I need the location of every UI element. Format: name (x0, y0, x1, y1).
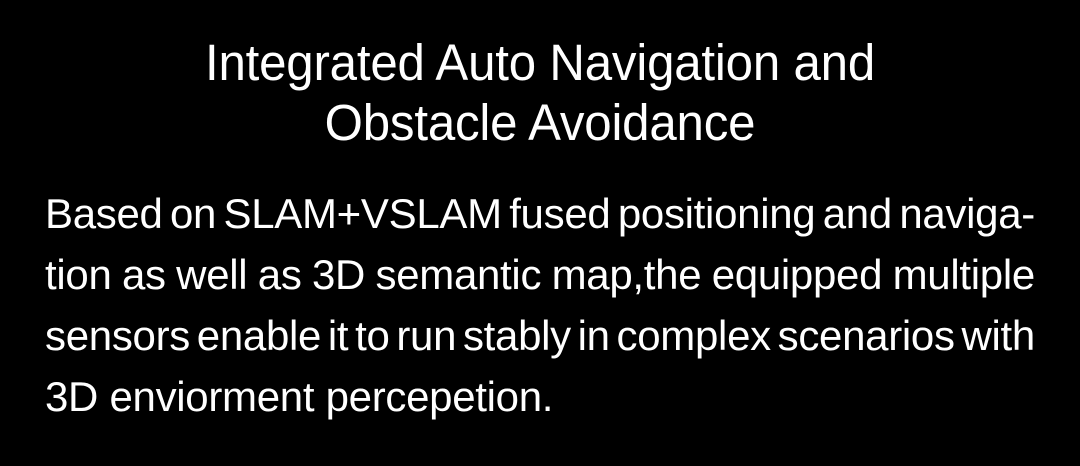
body-word: fused (509, 183, 610, 244)
body-line-3: sensors enable it to run stably in compl… (45, 305, 1035, 366)
body-word: enable (197, 305, 321, 366)
body-line-4: 3D enviorment percepetion. (45, 366, 1035, 427)
body-word: SLAM+VSLAM (224, 183, 502, 244)
body-word: 3D enviorment percepetion. (45, 366, 553, 427)
body-word: sensors (45, 305, 190, 366)
title-line-1: Integrated Auto Navigation and (19, 33, 1061, 93)
body-word: with (962, 305, 1036, 366)
body-word: run (396, 305, 456, 366)
body-word: positioning (618, 183, 816, 244)
body-word: map,the (552, 244, 702, 305)
body-word: as (258, 244, 302, 305)
body-word: 3D (312, 244, 365, 305)
body-word: well (176, 244, 247, 305)
body-word: multiple (893, 244, 1035, 305)
body-word: as (122, 244, 166, 305)
body-word: scenarios (778, 305, 955, 366)
body-word: stably (463, 305, 571, 366)
body-word: naviga- (899, 183, 1035, 244)
body-word: tion (45, 244, 112, 305)
slide-body-paragraph: Based on SLAM+VSLAM fused positioning an… (45, 183, 1035, 427)
slide-root: Integrated Auto Navigation and Obstacle … (0, 0, 1080, 466)
body-word: equipped (712, 244, 882, 305)
slide-title: Integrated Auto Navigation and Obstacle … (0, 33, 1080, 153)
body-line-1: Based on SLAM+VSLAM fused positioning an… (45, 183, 1035, 244)
body-line-2: tion as well as 3D semantic map,the equi… (45, 244, 1035, 305)
body-word: semantic (376, 244, 542, 305)
body-word: Based (45, 183, 163, 244)
body-word: complex (617, 305, 771, 366)
body-word: on (170, 183, 216, 244)
title-line-2: Obstacle Avoidance (19, 93, 1061, 153)
body-word: and (823, 183, 892, 244)
body-word: it (328, 305, 348, 366)
body-word: to (355, 305, 389, 366)
body-word: in (578, 305, 610, 366)
